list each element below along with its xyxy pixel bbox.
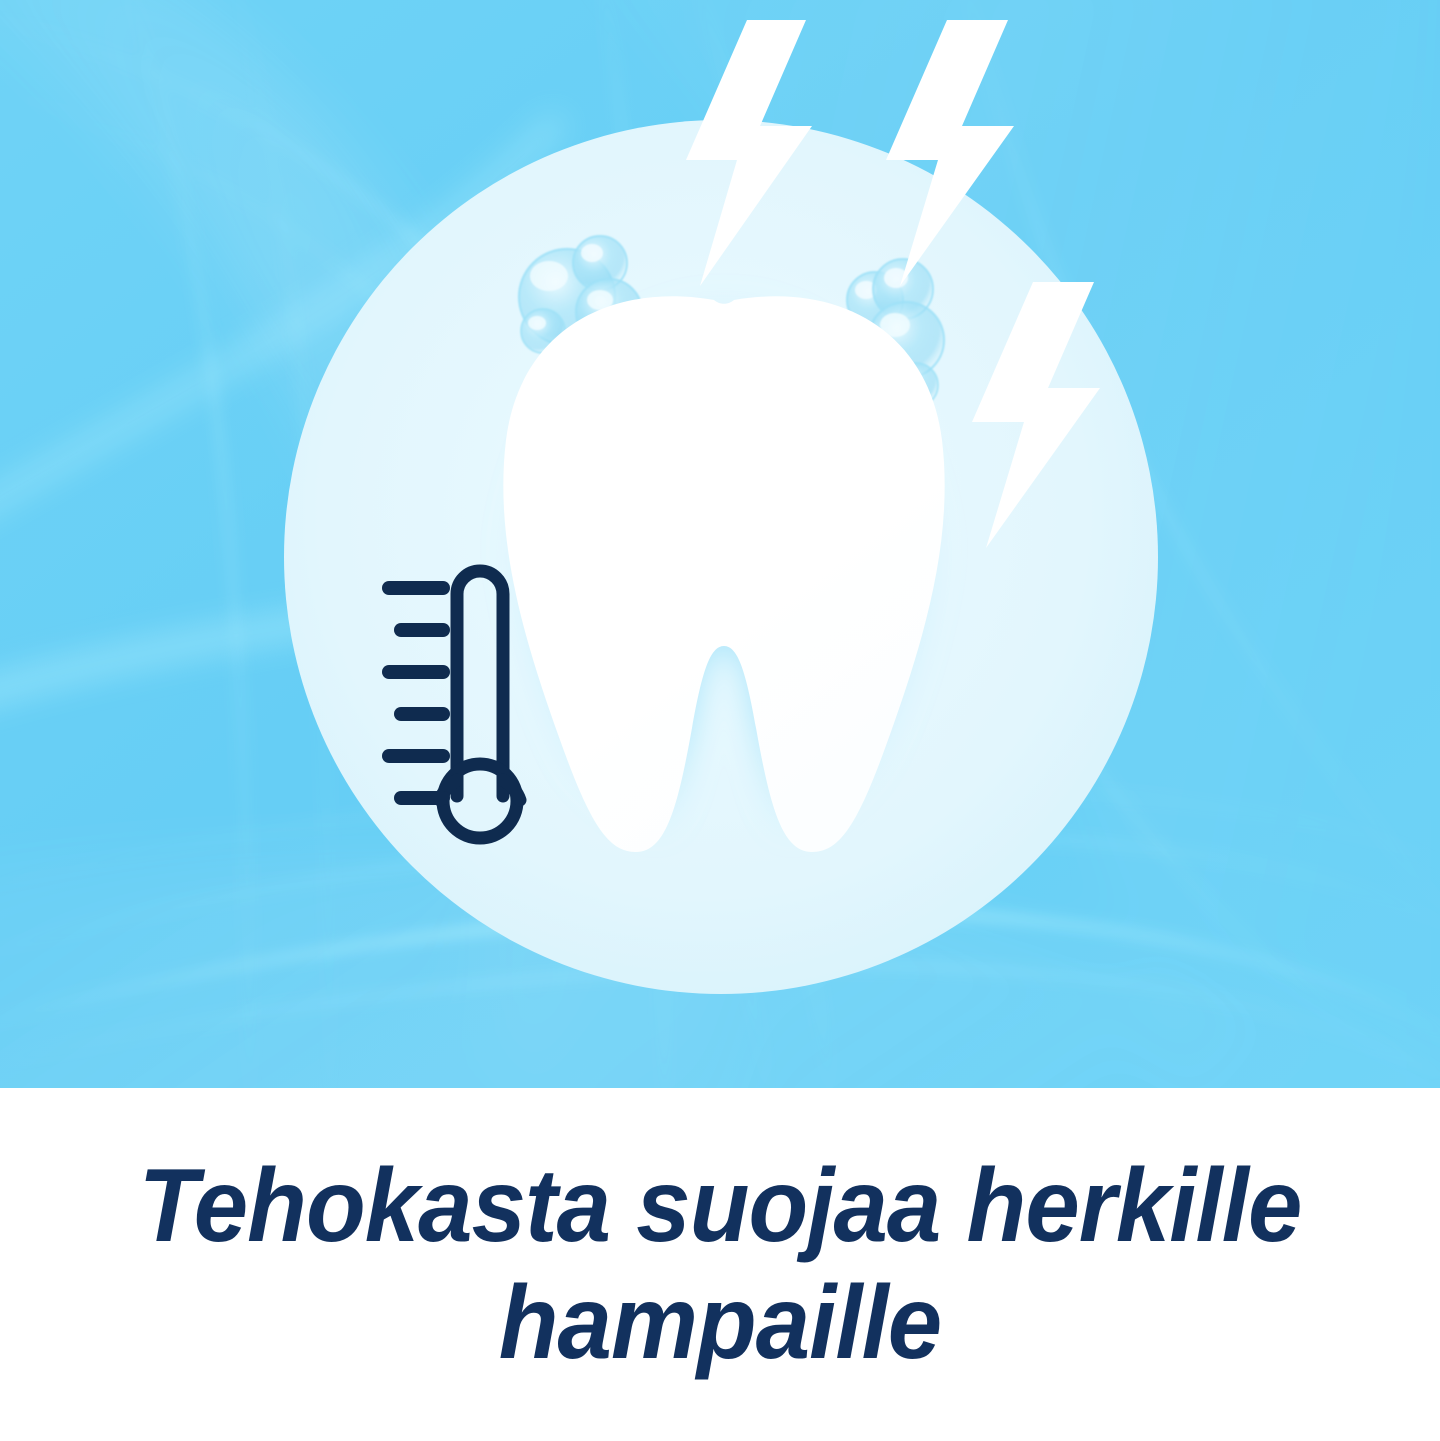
hero-illustration [0,0,1440,1088]
hero-panel [0,0,1440,1088]
product-banner: Tehokasta suojaa herkille hampaille [0,0,1440,1441]
caption-panel: Tehokasta suojaa herkille hampaille [0,1088,1440,1441]
caption-text: Tehokasta suojaa herkille hampaille [118,1148,1321,1381]
